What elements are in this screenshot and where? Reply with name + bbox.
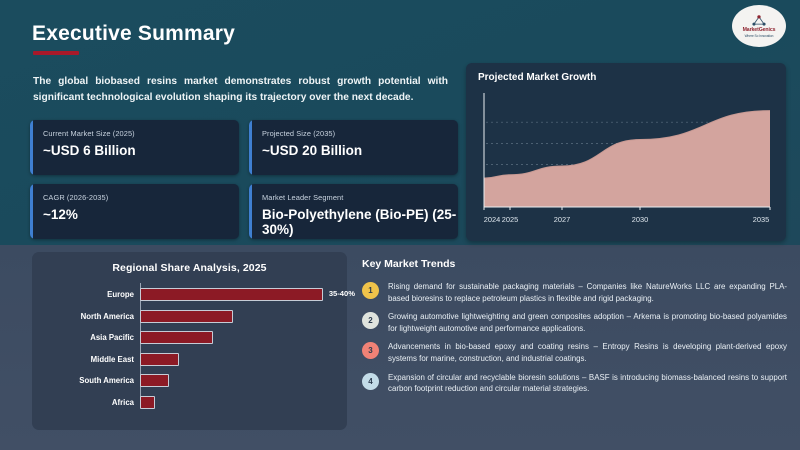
- summary-subtitle: The global biobased resins market demons…: [33, 74, 448, 106]
- kpi-card-market-leader-segment: Market Leader Segment Bio-Polyethylene (…: [249, 184, 458, 239]
- kpi-value: ~12%: [43, 207, 239, 222]
- bar-fill: [140, 331, 213, 344]
- area-series-fill: [484, 111, 770, 207]
- bar-row: Middle East: [140, 351, 335, 368]
- bar-track: [140, 394, 335, 411]
- trend-text: Rising demand for sustainable packaging …: [388, 281, 787, 304]
- bar-row: Africa: [140, 394, 335, 411]
- trend-item: 4Expansion of circular and recyclable bi…: [362, 372, 787, 395]
- projected-market-growth-panel: Projected Market Growth 2024202520272030…: [466, 63, 786, 241]
- kpi-card-projected-size: Projected Size (2035) ~USD 20 Billion: [249, 120, 458, 175]
- kpi-value: ~USD 6 Billion: [43, 143, 239, 158]
- x-tick-label: 2035: [753, 215, 769, 224]
- logo-name: MarketGenics: [743, 28, 776, 33]
- area-chart-svg: [478, 93, 774, 213]
- trends-title: Key Market Trends: [362, 258, 787, 270]
- x-tick-label: 2024: [484, 215, 500, 224]
- molecule-icon: [750, 14, 768, 27]
- trend-item: 1Rising demand for sustainable packaging…: [362, 281, 787, 304]
- kpi-card-cagr: CAGR (2026-2035) ~12%: [30, 184, 239, 239]
- bar-row: Europe35-40%: [140, 286, 335, 303]
- bar-category-label: Europe: [39, 290, 134, 299]
- bar-category-label: South America: [39, 376, 134, 385]
- trend-text: Advancements in bio-based epoxy and coat…: [388, 341, 787, 364]
- bar-chart: Europe35-40%North AmericaAsia PacificMid…: [44, 286, 335, 411]
- kpi-label: Market Leader Segment: [262, 193, 458, 202]
- kpi-label: CAGR (2026-2035): [43, 193, 239, 202]
- trend-number-badge: 1: [362, 282, 379, 299]
- bar-track: [140, 351, 335, 368]
- bar-fill: [140, 310, 233, 323]
- trend-list: 1Rising demand for sustainable packaging…: [362, 281, 787, 395]
- bar-track: [140, 329, 335, 346]
- key-market-trends: Key Market Trends 1Rising demand for sus…: [362, 258, 787, 402]
- regional-share-panel: Regional Share Analysis, 2025 Europe35-4…: [32, 252, 347, 430]
- logo-tagline: Where So Innovation: [745, 35, 774, 38]
- bar-row: South America: [140, 372, 335, 389]
- bar-category-label: Africa: [39, 398, 134, 407]
- brand-logo: MarketGenics Where So Innovation: [732, 5, 786, 47]
- page-title: Executive Summary: [32, 22, 235, 46]
- bar-track: [140, 372, 335, 389]
- bar-row: North America: [140, 308, 335, 325]
- trend-item: 2Growing automotive lightweighting and g…: [362, 311, 787, 334]
- bar-value-label: 35-40%: [329, 289, 355, 298]
- kpi-card-current-market-size: Current Market Size (2025) ~USD 6 Billio…: [30, 120, 239, 175]
- trend-text: Growing automotive lightweighting and gr…: [388, 311, 787, 334]
- bar-category-label: North America: [39, 312, 134, 321]
- x-tick-label: 2027: [554, 215, 570, 224]
- trend-number-badge: 3: [362, 342, 379, 359]
- bar-fill: [140, 288, 323, 301]
- title-underline-accent: [33, 51, 79, 55]
- bar-fill: [140, 374, 169, 387]
- bar-row: Asia Pacific: [140, 329, 335, 346]
- kpi-label: Projected Size (2035): [262, 129, 458, 138]
- bar-fill: [140, 396, 155, 409]
- trend-number-badge: 2: [362, 312, 379, 329]
- bar-fill: [140, 353, 179, 366]
- chart-title-growth: Projected Market Growth: [478, 72, 774, 83]
- bar-track: 35-40%: [140, 286, 335, 303]
- slide-root: Executive Summary MarketGenics Where So …: [0, 0, 800, 450]
- kpi-value: Bio-Polyethylene (Bio-PE) (25-30%): [262, 207, 458, 237]
- trend-number-badge: 4: [362, 373, 379, 390]
- bar-category-label: Asia Pacific: [39, 333, 134, 342]
- kpi-value: ~USD 20 Billion: [262, 143, 458, 158]
- kpi-label: Current Market Size (2025): [43, 129, 239, 138]
- trend-item: 3Advancements in bio-based epoxy and coa…: [362, 341, 787, 364]
- kpi-grid: Current Market Size (2025) ~USD 6 Billio…: [30, 120, 458, 248]
- area-chart-plot: [478, 93, 774, 213]
- chart-title-regional: Regional Share Analysis, 2025: [44, 262, 335, 274]
- bar-track: [140, 308, 335, 325]
- bar-category-label: Middle East: [39, 355, 134, 364]
- trend-text: Expansion of circular and recyclable bio…: [388, 372, 787, 395]
- chart-x-axis-labels: 20242025202720302035: [478, 213, 774, 227]
- x-tick-label: 2025: [502, 215, 518, 224]
- x-tick-label: 2030: [632, 215, 648, 224]
